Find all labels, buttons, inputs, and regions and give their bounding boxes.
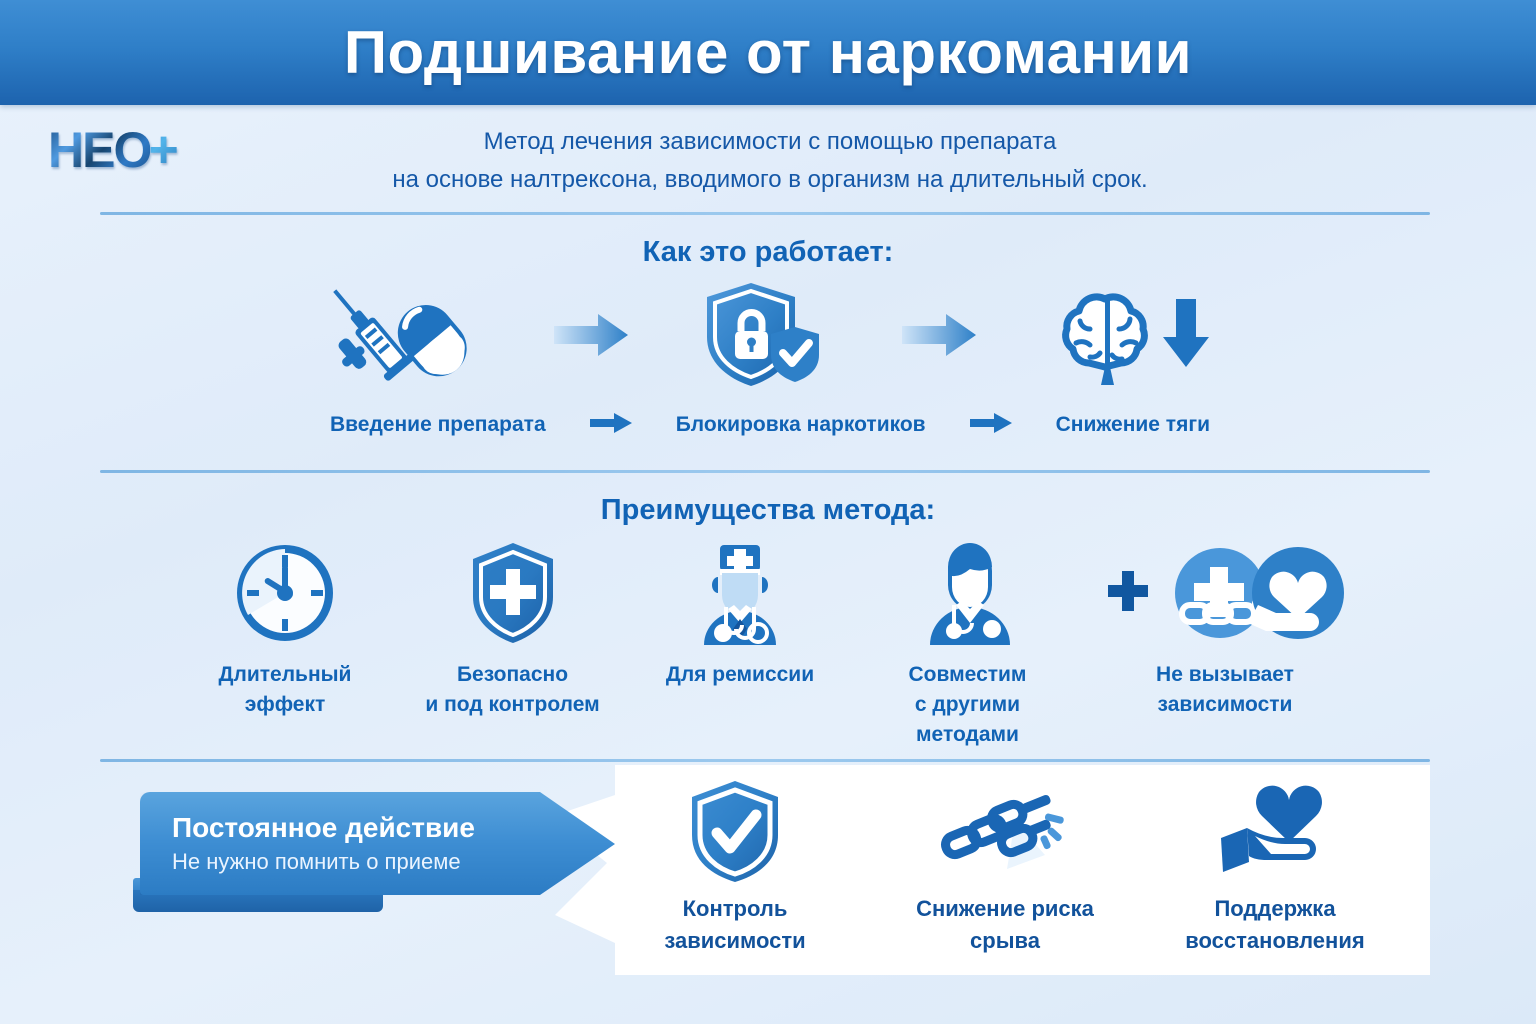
- brand-logo-plus: +: [148, 120, 178, 180]
- how-it-works-labels: Введение препарата Блокировка наркотиков…: [330, 405, 1210, 445]
- page-title: Подшивание от наркомании: [344, 18, 1192, 87]
- benefit-label-5: Не вызывает: [1156, 660, 1294, 690]
- ribbon-text-group: Постоянное действие Не нужно помнить о п…: [172, 810, 592, 878]
- brain-down-arrow-icon: [1050, 281, 1210, 394]
- benefit-item-compatible: Совместим с другими методами: [863, 540, 1073, 750]
- shield-check-icon: [686, 778, 784, 883]
- divider-2: [100, 470, 1430, 473]
- benefit-item-no-addiction: Не вызывает зависимости: [1090, 540, 1360, 720]
- bottom-item-support: Поддержка восстановления: [1150, 778, 1400, 957]
- intro-line-2: на основе налтрексона, вводимого в орган…: [300, 161, 1240, 199]
- shield-cross-icon: [469, 540, 557, 646]
- benefit-label-5b: зависимости: [1156, 690, 1294, 720]
- physician-icon: [918, 540, 1018, 646]
- arrow-right-icon-1: [554, 312, 628, 363]
- arrow-small-icon-2: [970, 412, 1012, 439]
- benefit-label-4: Совместим: [863, 660, 1073, 690]
- benefit-item-remission: Для ремиссии: [635, 540, 845, 690]
- broken-chain-icon: [935, 778, 1075, 883]
- benefit-label-3: Для ремиссии: [666, 660, 814, 690]
- page-header: Подшивание от наркомании: [0, 0, 1536, 105]
- benefits-row: Длительный эффект Безопасно и под контро…: [180, 540, 1360, 740]
- benefit-item-safe: Безопасно и под контролем: [408, 540, 618, 720]
- shield-lock-icon: [703, 281, 828, 394]
- how-step-label-3: Снижение тяги: [1056, 413, 1210, 437]
- bottom-item-control: Контроль зависимости: [610, 778, 860, 957]
- intro-description: Метод лечения зависимости с помощью преп…: [300, 123, 1240, 199]
- bottom-label-1: Контроль зависимости: [610, 893, 860, 957]
- ribbon-subtitle: Не нужно помнить о приеме: [172, 846, 592, 878]
- how-it-works-icons: [330, 282, 1210, 392]
- chain-heart-circles-icon: [1100, 540, 1350, 646]
- benefit-label-1: Длительный эффект: [180, 660, 390, 720]
- how-step-label-1: Введение препарата: [330, 413, 546, 437]
- brand-logo: НЕО+: [48, 119, 248, 181]
- arrow-small-icon-1: [590, 412, 632, 439]
- clock-icon: [235, 540, 335, 646]
- bottom-item-relapse: Снижение риска срыва: [880, 778, 1130, 957]
- bottom-items-row: Контроль зависимости: [600, 778, 1410, 973]
- arrow-right-icon-2: [902, 312, 976, 363]
- how-step-label-2: Блокировка наркотиков: [676, 413, 926, 437]
- brand-logo-text: НЕО: [48, 121, 150, 179]
- benefit-label-2b: и под контролем: [425, 690, 599, 720]
- ribbon-title: Постоянное действие: [172, 810, 592, 846]
- bottom-label-3b: восстановления: [1185, 925, 1364, 957]
- benefit-label-4b: с другими методами: [863, 690, 1073, 750]
- how-it-works-title: Как это работает:: [0, 236, 1536, 269]
- benefit-label-2: Безопасно: [425, 660, 599, 690]
- hand-heart-icon: [1215, 778, 1335, 883]
- doctor-icon: [690, 540, 790, 646]
- intro-line-1: Метод лечения зависимости с помощью преп…: [300, 123, 1240, 161]
- intro-row: НЕО+ Метод лечения зависимости с помощью…: [0, 105, 1536, 213]
- benefit-item-long-effect: Длительный эффект: [180, 540, 390, 720]
- divider-3: [100, 759, 1430, 762]
- syringe-pill-icon: [330, 282, 480, 392]
- bottom-label-3: Поддержка: [1185, 893, 1364, 925]
- bottom-label-2: Снижение риска срыва: [880, 893, 1130, 957]
- benefits-title: Преимущества метода:: [0, 494, 1536, 527]
- divider-1: [100, 212, 1430, 215]
